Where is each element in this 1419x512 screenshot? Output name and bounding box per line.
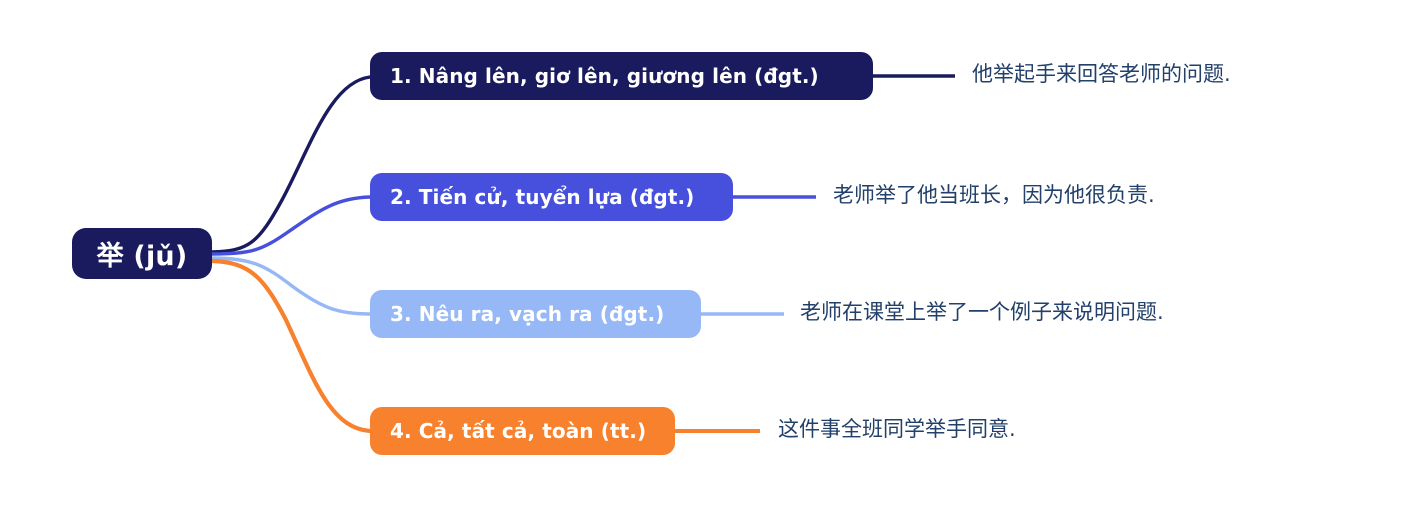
branch-node-4[interactable]: 4. Cả, tất cả, toàn (tt.) bbox=[370, 407, 675, 455]
branch-node-3[interactable]: 3. Nêu ra, vạch ra (đgt.) bbox=[370, 290, 701, 338]
connector-curve-branch-4 bbox=[212, 261, 370, 431]
example-sentence-3: 老师在课堂上举了一个例子来说明问题. bbox=[800, 302, 1164, 323]
branch-node-2[interactable]: 2. Tiến cử, tuyển lựa (đgt.) bbox=[370, 173, 733, 221]
branch-node-3-label: 3. Nêu ra, vạch ra (đgt.) bbox=[390, 302, 664, 326]
connector-curve-branch-1 bbox=[212, 77, 370, 252]
branch-node-2-label: 2. Tiến cử, tuyển lựa (đgt.) bbox=[390, 185, 694, 209]
branch-node-1[interactable]: 1. Nâng lên, giơ lên, giương lên (đgt.) bbox=[370, 52, 873, 100]
example-sentence-1: 他举起手来回答老师的问题. bbox=[972, 64, 1231, 85]
root-node-label: 举 (jǔ) bbox=[97, 234, 188, 273]
mindmap-canvas: 举 (jǔ) 1. Nâng lên, giơ lên, giương lên … bbox=[0, 0, 1419, 512]
connector-curve-branch-2 bbox=[212, 197, 370, 254]
connector-curve-branch-3 bbox=[212, 258, 370, 314]
example-sentence-2: 老师举了他当班长，因为他很负责. bbox=[833, 185, 1155, 206]
branch-node-4-label: 4. Cả, tất cả, toàn (tt.) bbox=[390, 419, 646, 443]
root-node[interactable]: 举 (jǔ) bbox=[72, 228, 212, 279]
branch-node-1-label: 1. Nâng lên, giơ lên, giương lên (đgt.) bbox=[390, 64, 819, 88]
example-sentence-4: 这件事全班同学举手同意. bbox=[778, 419, 1016, 440]
